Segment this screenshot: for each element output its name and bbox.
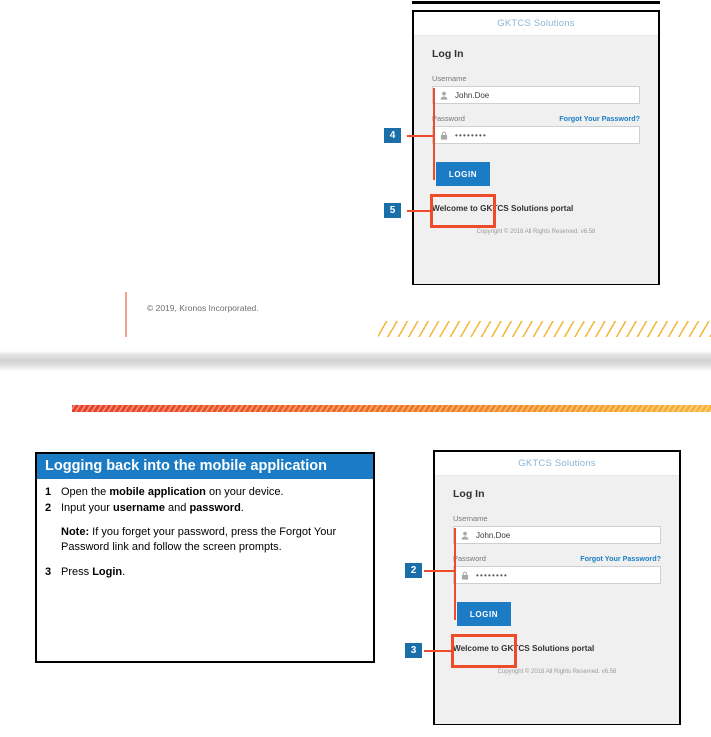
- panel-copyright: Copyright © 2018 All Rights Reserved. v6…: [432, 229, 640, 235]
- instruction-step-1: 1 Open the mobile application on your de…: [45, 485, 363, 500]
- password-value: ••••••••: [455, 131, 487, 140]
- password-label: Password: [453, 554, 486, 563]
- instruction-heading: Logging back into the mobile application: [37, 454, 373, 479]
- footer-copyright: © 2019, Kronos Incorporated.: [147, 303, 259, 313]
- page-separator-band: [0, 351, 711, 371]
- brand-label: GKTCS Solutions: [497, 18, 574, 29]
- username-value: John.Doe: [476, 531, 510, 540]
- welcome-message: Welcome to GKTCS Solutions portal: [432, 204, 640, 213]
- callout-lead-3: [424, 650, 453, 652]
- login-panel-bottom: GKTCS Solutions Log In Username John.Doe…: [433, 450, 681, 725]
- forgot-password-link[interactable]: Forgot Your Password?: [580, 554, 661, 563]
- password-label-row: Password Forgot Your Password?: [453, 554, 661, 563]
- login-heading: Log In: [453, 488, 661, 500]
- note-label: Note:: [61, 526, 89, 538]
- instruction-step-3: 3 Press Login.: [45, 565, 363, 580]
- username-label-row: Username: [453, 514, 661, 523]
- callout-lead-2: [424, 570, 456, 572]
- panel-header: GKTCS Solutions: [435, 452, 679, 476]
- instruction-box: Logging back into the mobile application…: [35, 452, 375, 663]
- lock-icon: [460, 570, 470, 581]
- login-panel-top: GKTCS Solutions Log In Username John.Doe…: [412, 10, 660, 285]
- callout-bracket-4: [433, 88, 435, 180]
- step-number: 3: [45, 565, 61, 580]
- login-button[interactable]: LOGIN: [457, 602, 511, 626]
- section-divider: [72, 405, 711, 412]
- step-text: Input your username and password.: [61, 501, 363, 516]
- username-label-row: Username: [432, 74, 640, 83]
- username-label: Username: [453, 514, 488, 523]
- callout-lead-5: [407, 210, 432, 212]
- callout-number-2: 2: [405, 563, 422, 578]
- password-value: ••••••••: [476, 571, 508, 580]
- callout-bracket-2: [454, 528, 456, 620]
- panel-body: Log In Username John.Doe Password Forgot…: [414, 36, 658, 284]
- step-number: 1: [45, 485, 61, 500]
- panel-header: GKTCS Solutions: [414, 12, 658, 36]
- note-text: If you forget your password, press the F…: [61, 526, 336, 553]
- username-input[interactable]: John.Doe: [453, 526, 661, 544]
- password-label-row: Password Forgot Your Password?: [432, 114, 640, 123]
- instruction-body: 1 Open the mobile application on your de…: [37, 479, 373, 589]
- forgot-password-link[interactable]: Forgot Your Password?: [559, 114, 640, 123]
- callout-number-4: 4: [384, 128, 401, 143]
- lock-icon: [439, 130, 449, 141]
- page-rule-top: [412, 1, 660, 4]
- password-input[interactable]: ••••••••: [453, 566, 661, 584]
- footer-accent-bar: [125, 292, 127, 337]
- user-icon: [460, 530, 470, 541]
- step-text: Press Login.: [61, 565, 363, 580]
- callout-number-3: 3: [405, 643, 422, 658]
- password-input[interactable]: ••••••••: [432, 126, 640, 144]
- step-number: 2: [45, 501, 61, 516]
- login-button[interactable]: LOGIN: [436, 162, 490, 186]
- password-label: Password: [432, 114, 465, 123]
- panel-body: Log In Username John.Doe Password Forgot…: [435, 476, 679, 724]
- brand-label: GKTCS Solutions: [518, 458, 595, 469]
- welcome-message: Welcome to GKTCS Solutions portal: [453, 644, 661, 653]
- username-value: John.Doe: [455, 91, 489, 100]
- username-input[interactable]: John.Doe: [432, 86, 640, 104]
- instruction-step-2: 2 Input your username and password.: [45, 501, 363, 516]
- panel-copyright: Copyright © 2018 All Rights Reserved. v6…: [453, 669, 661, 675]
- instruction-note: Note: If you forget your password, press…: [61, 525, 363, 554]
- user-icon: [439, 90, 449, 101]
- callout-number-5: 5: [384, 203, 401, 218]
- decorative-hatch-strip: [378, 321, 711, 337]
- step-text: Open the mobile application on your devi…: [61, 485, 363, 500]
- login-heading: Log In: [432, 48, 640, 60]
- callout-lead-4: [407, 135, 435, 137]
- username-label: Username: [432, 74, 467, 83]
